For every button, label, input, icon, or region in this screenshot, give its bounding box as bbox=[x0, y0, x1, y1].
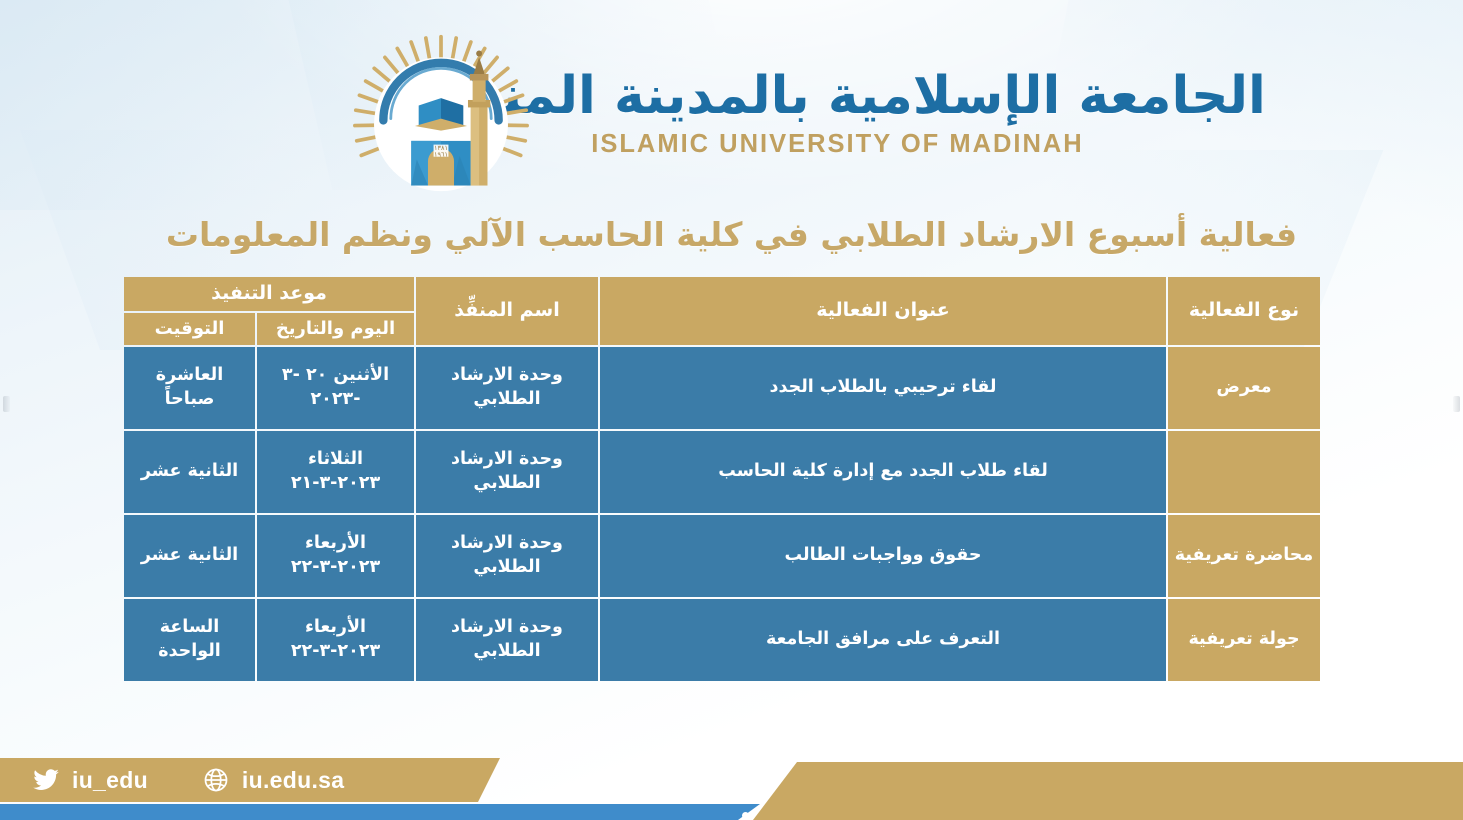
table-row: جولة تعريفية التعرف على مرافق الجامعة وح… bbox=[124, 599, 1320, 681]
cell-event-type bbox=[1168, 431, 1320, 513]
cell-organizer: وحدة الارشاد الطلابي bbox=[416, 599, 598, 681]
column-header-group-schedule: موعد التنفيذ bbox=[124, 277, 414, 311]
cell-event-type: معرض bbox=[1168, 347, 1320, 429]
cell-day-date: الثلاثاء ٢٠٢٣-٣-٢١ bbox=[257, 431, 414, 513]
globe-icon bbox=[202, 766, 230, 794]
cell-event-type: محاضرة تعريفية bbox=[1168, 515, 1320, 597]
cell-organizer: وحدة الارشاد الطلابي bbox=[416, 347, 598, 429]
column-header-day-date: اليوم والتاريخ bbox=[257, 313, 414, 345]
table-row: محاضرة تعريفية حقوق وواجبات الطالب وحدة … bbox=[124, 515, 1320, 597]
cell-time: الثانية عشر bbox=[124, 431, 255, 513]
university-crest-icon: ١٣٨١ ١٩٦١ bbox=[348, 20, 534, 206]
cell-organizer: وحدة الارشاد الطلابي bbox=[416, 431, 598, 513]
cell-time: الساعة الواحدة bbox=[124, 599, 255, 681]
table-row: لقاء طلاب الجدد مع إدارة كلية الحاسب وحد… bbox=[124, 431, 1320, 513]
footer-accent-strip bbox=[0, 804, 760, 820]
twitter-bird-icon bbox=[32, 766, 60, 794]
column-header-event-title: عنوان الفعالية bbox=[600, 277, 1166, 345]
brand-header: ١٣٨١ ١٩٦١ الجامعة الإسلامية بالمدينة الم… bbox=[0, 28, 1463, 198]
cell-day-date: الأثنين ٢٠ -٣ -٢٠٢٣ bbox=[257, 347, 414, 429]
footer-contact-bar: iu_edu iu.edu.sa bbox=[0, 758, 500, 802]
schedule-table: نوع الفعالية عنوان الفعالية اسم المنفِّذ… bbox=[122, 275, 1322, 683]
cell-time: الثانية عشر bbox=[124, 515, 255, 597]
column-header-organizer: اسم المنفِّذ bbox=[416, 277, 598, 345]
twitter-handle-label: iu_edu bbox=[72, 767, 148, 794]
right-edge-marker bbox=[1453, 396, 1460, 412]
table-header-row-top: نوع الفعالية عنوان الفعالية اسم المنفِّذ… bbox=[124, 277, 1320, 311]
cell-event-type: جولة تعريفية bbox=[1168, 599, 1320, 681]
website-label: iu.edu.sa bbox=[242, 767, 344, 794]
table-row: معرض لقاء ترحيبي بالطلاب الجدد وحدة الار… bbox=[124, 347, 1320, 429]
cell-day-date: الأربعاء ٢٠٢٣-٣-٢٢ bbox=[257, 515, 414, 597]
cell-organizer: وحدة الارشاد الطلابي bbox=[416, 515, 598, 597]
footer-accent-dot bbox=[742, 812, 749, 819]
wordmark-arabic: الجامعة الإسلامية بالمدينة المنورة bbox=[409, 67, 1266, 127]
wordmark-english: ISLAMIC UNIVERSITY OF MADINAH bbox=[591, 130, 1083, 159]
website-group[interactable]: iu.edu.sa bbox=[202, 766, 344, 794]
schedule-table-container: نوع الفعالية عنوان الفعالية اسم المنفِّذ… bbox=[132, 275, 1322, 683]
wordmark: الجامعة الإسلامية بالمدينة المنورة ISLAM… bbox=[560, 67, 1116, 160]
svg-text:١٩٦١: ١٩٦١ bbox=[434, 151, 448, 159]
slide-footer: iu_edu iu.edu.sa bbox=[0, 748, 1463, 820]
page-title: فعالية أسبوع الارشاد الطلابي في كلية الح… bbox=[0, 214, 1463, 255]
cell-event-title: حقوق وواجبات الطالب bbox=[600, 515, 1166, 597]
cell-event-title: لقاء طلاب الجدد مع إدارة كلية الحاسب bbox=[600, 431, 1166, 513]
cell-day-date: الأربعاء ٢٠٢٣-٣-٢٢ bbox=[257, 599, 414, 681]
cell-event-title: لقاء ترحيبي بالطلاب الجدد bbox=[600, 347, 1166, 429]
slide-canvas: ١٣٨١ ١٩٦١ الجامعة الإسلامية بالمدينة الم… bbox=[0, 0, 1463, 820]
column-header-event-type: نوع الفعالية bbox=[1168, 277, 1320, 345]
column-header-time: التوقيت bbox=[124, 313, 255, 345]
twitter-handle-group[interactable]: iu_edu bbox=[32, 766, 148, 794]
footer-gold-shape bbox=[753, 762, 1463, 820]
cell-time: العاشرة صباحاً bbox=[124, 347, 255, 429]
left-edge-marker bbox=[3, 396, 10, 412]
cell-event-title: التعرف على مرافق الجامعة bbox=[600, 599, 1166, 681]
